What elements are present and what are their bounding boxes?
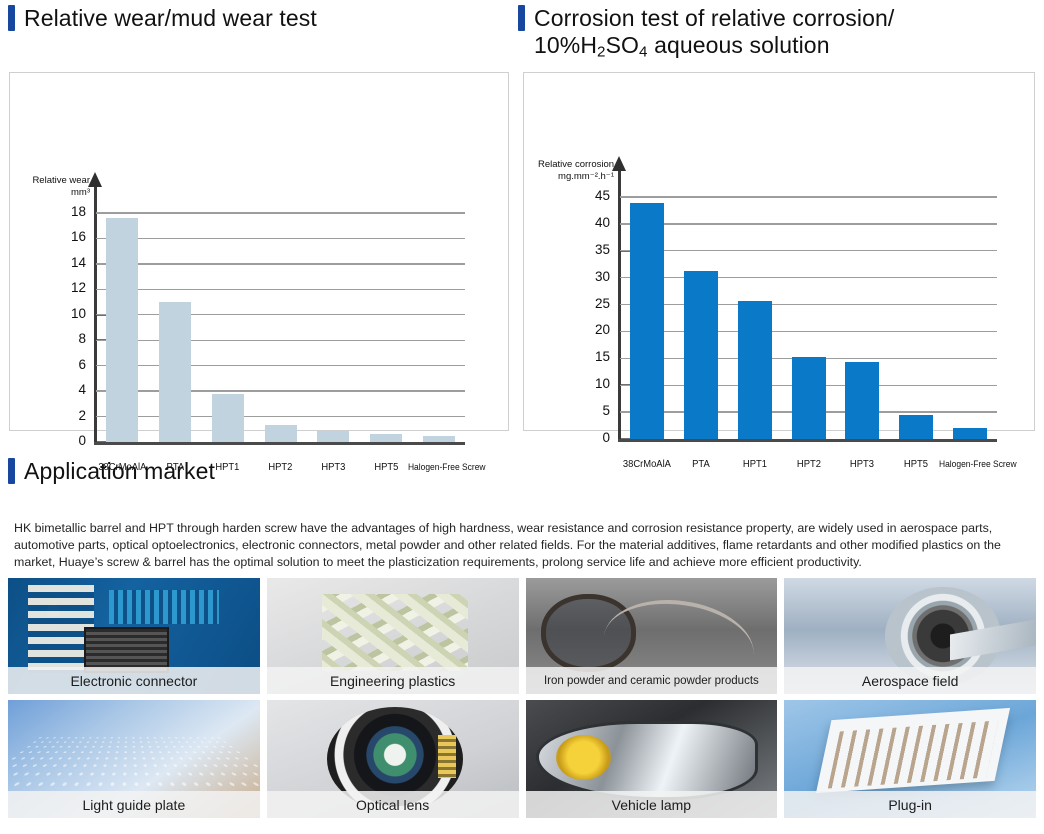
right-chart-title-line2: 10%H2SO4 aqueous solution — [534, 32, 894, 61]
bar — [265, 425, 297, 442]
bar — [630, 203, 664, 439]
bar — [212, 394, 244, 442]
y-axis-tick-label: 25 — [572, 296, 610, 311]
gridline — [96, 289, 465, 290]
y-axis-title: Relative wearmm³ — [14, 175, 90, 199]
right-chart-card: Relative corrosionmg.mm⁻².h⁻¹05101520253… — [523, 72, 1035, 431]
bar — [423, 436, 455, 442]
x-axis-category-label: HPT3 — [303, 462, 364, 473]
accent-bar-icon — [8, 458, 15, 484]
bar — [792, 357, 826, 439]
right-chart-heading: Corrosion test of relative corrosion/ 10… — [518, 5, 894, 61]
y-axis-tick-label: 14 — [48, 255, 86, 270]
tile-engineering-plastics[interactable]: Engineering plastics — [267, 578, 519, 694]
tile-caption: Iron powder and ceramic powder products — [526, 667, 778, 694]
accent-bar-icon — [518, 5, 525, 31]
right-chart-title: Corrosion test of relative corrosion/ 10… — [534, 5, 894, 61]
gridline — [96, 314, 465, 315]
y-axis-tick-label: 15 — [572, 349, 610, 364]
gridline — [620, 277, 997, 278]
left-chart-plot: Relative wearmm³02468101214161838CrMoAlA… — [10, 73, 508, 430]
y-axis-arrow-icon — [88, 172, 102, 187]
right-chart-title-line1: Corrosion test of relative corrosion/ — [534, 5, 894, 31]
application-market-paragraph: HK bimetallic barrel and HPT through har… — [14, 520, 1032, 570]
tile-electronic-connector[interactable]: Electronic connector — [8, 578, 260, 694]
gridline — [620, 250, 997, 251]
gridline — [96, 212, 465, 213]
y-axis-tick-label: 6 — [48, 357, 86, 372]
charts-section: Relative wear/mud wear test Corrosion te… — [0, 0, 1044, 440]
tile-caption: Aerospace field — [784, 667, 1036, 694]
y-axis-tick-label: 8 — [48, 331, 86, 346]
left-chart-heading: Relative wear/mud wear test — [8, 5, 317, 32]
tile-plug-in[interactable]: Plug-in — [784, 700, 1036, 818]
tile-light-guide-plate[interactable]: Light guide plate — [8, 700, 260, 818]
application-market-heading: Application market — [8, 458, 215, 485]
y-axis-tick-label: 10 — [48, 306, 86, 321]
application-image-grid: Electronic connector Engineering plastic… — [8, 578, 1036, 828]
y-axis-tick-label: 0 — [48, 433, 86, 448]
x-axis-category-label: PTA — [670, 459, 732, 470]
bar — [106, 218, 138, 442]
y-axis-title: Relative corrosionmg.mm⁻².h⁻¹ — [538, 159, 614, 183]
bar — [845, 362, 879, 439]
x-axis-category-label: 38CrMoAlA — [616, 459, 678, 470]
application-market-title: Application market — [24, 458, 215, 485]
gridline — [96, 263, 465, 264]
bar — [159, 302, 191, 442]
x-axis-line — [94, 442, 465, 445]
gridline — [96, 416, 465, 417]
y-axis-tick-label: 5 — [572, 403, 610, 418]
gridline — [620, 196, 997, 197]
y-axis-tick-label: 30 — [572, 269, 610, 284]
tile-caption: Plug-in — [784, 791, 1036, 818]
tile-caption: Light guide plate — [8, 791, 260, 818]
gridline — [620, 304, 997, 305]
x-axis-category-label: HPT1 — [724, 459, 786, 470]
left-chart-title: Relative wear/mud wear test — [24, 5, 317, 32]
right-chart-plot: Relative corrosionmg.mm⁻².h⁻¹05101520253… — [524, 73, 1034, 430]
tile-caption: Engineering plastics — [267, 667, 519, 694]
y-axis-tick-label: 45 — [572, 188, 610, 203]
x-axis-category-label: HPT2 — [250, 462, 311, 473]
bar — [370, 434, 402, 442]
tile-iron-powder-ceramic-powder[interactable]: Iron powder and ceramic powder products — [526, 578, 778, 694]
gridline — [620, 331, 997, 332]
y-axis-tick-label: 35 — [572, 242, 610, 257]
gridline — [96, 238, 465, 239]
tile-aerospace-field[interactable]: Aerospace field — [784, 578, 1036, 694]
gridline — [96, 340, 465, 341]
tile-caption: Optical lens — [267, 791, 519, 818]
accent-bar-icon — [8, 5, 15, 31]
y-axis-tick-label: 20 — [572, 322, 610, 337]
bar — [899, 415, 933, 439]
y-axis-tick-label: 4 — [48, 382, 86, 397]
tile-caption: Electronic connector — [8, 667, 260, 694]
x-axis-category-label: Halogen-Free Screw — [939, 459, 1001, 469]
tile-caption: Vehicle lamp — [526, 791, 778, 818]
x-axis-line — [618, 439, 997, 442]
bar — [953, 428, 987, 439]
gridline — [96, 365, 465, 366]
gridline — [96, 390, 465, 391]
y-axis-tick-label: 10 — [572, 376, 610, 391]
gridline — [620, 223, 997, 224]
y-axis-tick-label: 0 — [572, 430, 610, 445]
bar — [317, 431, 349, 442]
left-chart-card: Relative wearmm³02468101214161838CrMoAlA… — [9, 72, 509, 431]
y-axis-tick-label: 40 — [572, 215, 610, 230]
tile-vehicle-lamp[interactable]: Vehicle lamp — [526, 700, 778, 818]
y-axis-tick-label: 18 — [48, 204, 86, 219]
y-axis-arrow-icon — [612, 156, 626, 171]
x-axis-category-label: Halogen-Free Screw — [408, 462, 469, 472]
tile-optical-lens[interactable]: Optical lens — [267, 700, 519, 818]
y-axis-tick-label: 16 — [48, 229, 86, 244]
x-axis-category-label: HPT5 — [885, 459, 947, 470]
bar — [738, 301, 772, 439]
bar — [684, 271, 718, 439]
y-axis-tick-label: 12 — [48, 280, 86, 295]
y-axis-tick-label: 2 — [48, 408, 86, 423]
